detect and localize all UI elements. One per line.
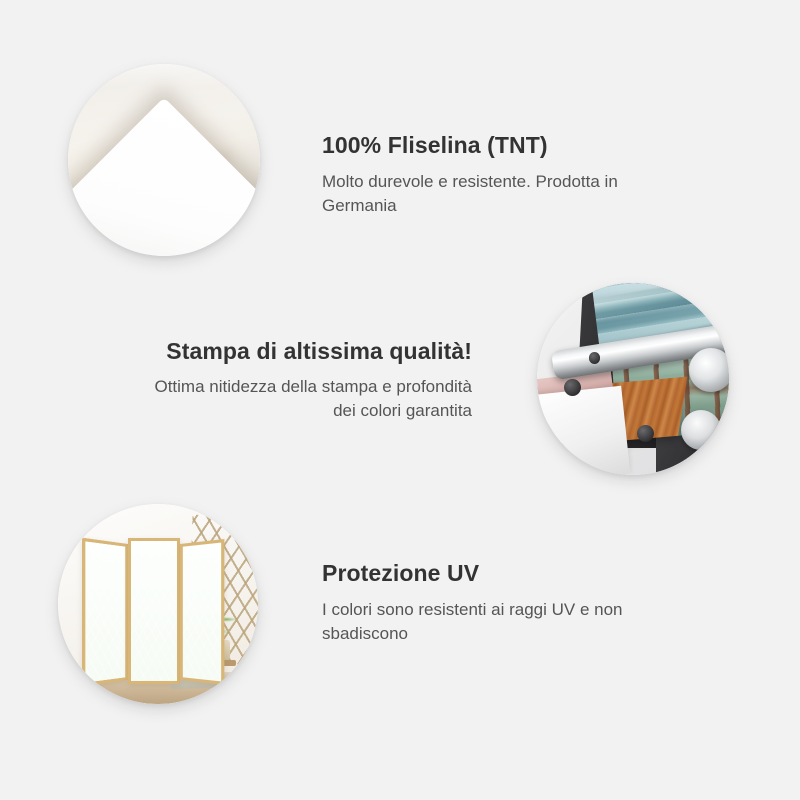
feature-highlights-panel: 100% Fliselina (TNT) Molto durevole e re… <box>0 0 800 800</box>
leaf-vein-texture <box>131 541 177 681</box>
roller-end-cap <box>689 348 729 392</box>
circle-clip <box>537 283 729 475</box>
roller-end-cap-lower <box>681 410 721 450</box>
feature-title: Stampa di altissima qualità! <box>150 338 472 366</box>
feature-text-print-quality: Stampa di altissima qualità! Ottima niti… <box>150 338 472 423</box>
divider-panel-left <box>82 538 128 687</box>
leaf-vein-texture <box>183 543 221 682</box>
circle-clip <box>68 64 260 256</box>
machine-white-housing <box>537 385 630 475</box>
feature-text-uv-protection: Protezione UV I colori sono resistenti a… <box>322 560 682 646</box>
machine-knob <box>589 352 601 364</box>
tropical-room-divider-photo <box>58 504 258 704</box>
feature-title: Protezione UV <box>322 560 682 588</box>
divider-panel-right <box>180 539 224 685</box>
printing-machine-photo <box>537 283 729 475</box>
wallpaper-peeling-corner-photo <box>68 64 260 256</box>
circle-clip <box>58 504 258 704</box>
feature-title: 100% Fliselina (TNT) <box>322 132 682 160</box>
feature-description: Molto durevole e resistente. Prodotta in… <box>322 170 682 218</box>
feature-description: Ottima nitidezza della stampa e profondi… <box>150 375 472 423</box>
feature-description: I colori sono resistenti ai raggi UV e n… <box>322 598 682 646</box>
divider-panel-middle <box>128 538 180 684</box>
leaf-vein-texture <box>85 541 125 682</box>
feature-text-material: 100% Fliselina (TNT) Molto durevole e re… <box>322 132 682 218</box>
